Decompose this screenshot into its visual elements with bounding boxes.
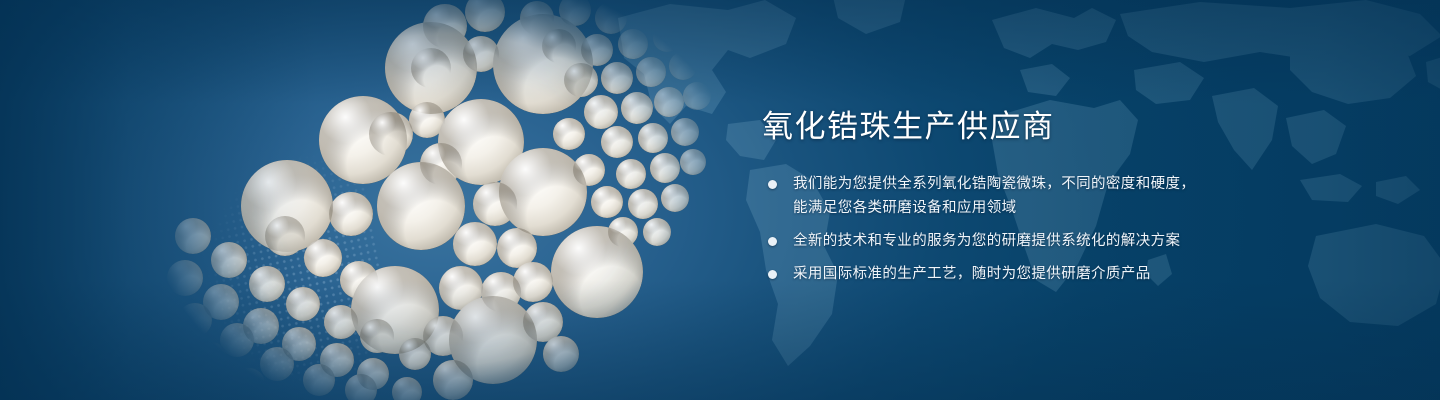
bullet-dot-icon <box>768 180 777 189</box>
feature-item-2-line-1: 全新的技术和专业的服务为您的研磨提供系统化的解决方案 <box>793 229 1232 253</box>
feature-item-3: 采用国际标准的生产工艺，随时为您提供研磨介质产品 <box>762 262 1232 286</box>
banner-headline: 氧化锆珠生产供应商 <box>762 108 1232 146</box>
feature-item-2: 全新的技术和专业的服务为您的研磨提供系统化的解决方案 <box>762 229 1232 253</box>
bullet-dot-icon <box>768 237 777 246</box>
feature-item-1: 我们能为您提供全系列氧化锆陶瓷微珠，不同的密度和硬度， 能满足您各类研磨设备和应… <box>762 172 1232 220</box>
feature-item-1-line-1: 我们能为您提供全系列氧化锆陶瓷微珠，不同的密度和硬度， <box>793 172 1232 196</box>
bullet-dot-icon <box>768 270 777 279</box>
feature-item-3-line-1: 采用国际标准的生产工艺，随时为您提供研磨介质产品 <box>793 262 1232 286</box>
feature-list: 我们能为您提供全系列氧化锆陶瓷微珠，不同的密度和硬度， 能满足您各类研磨设备和应… <box>762 172 1232 286</box>
hero-banner: 氧化锆珠生产供应商 我们能为您提供全系列氧化锆陶瓷微珠，不同的密度和硬度， 能满… <box>0 0 1440 400</box>
feature-item-1-line-2: 能满足您各类研磨设备和应用领域 <box>793 196 1232 220</box>
banner-content: 氧化锆珠生产供应商 我们能为您提供全系列氧化锆陶瓷微珠，不同的密度和硬度， 能满… <box>762 108 1232 286</box>
